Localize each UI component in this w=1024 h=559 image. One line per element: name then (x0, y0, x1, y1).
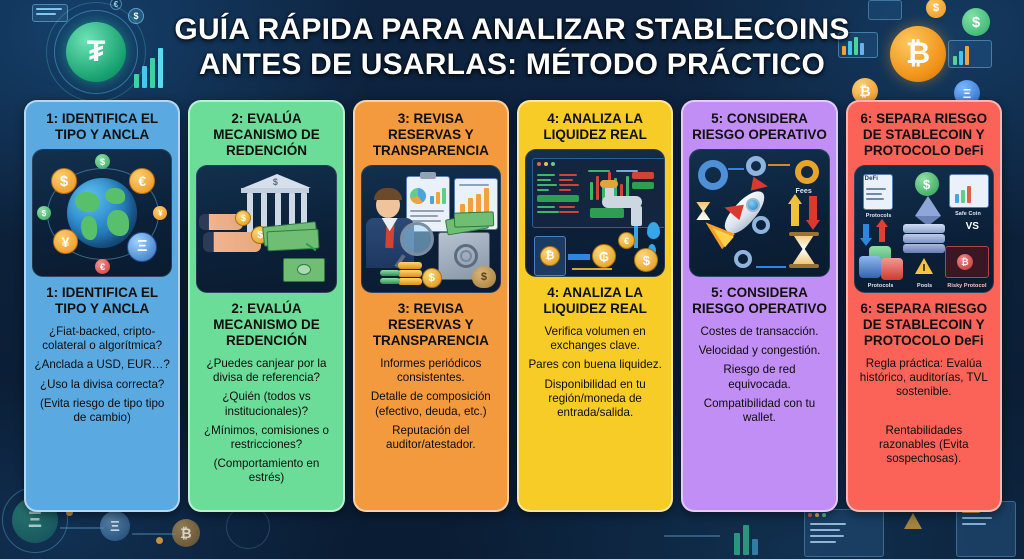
dollar-coin-icon: $ (51, 168, 77, 194)
card-1-body-line-4: (Evita riesgo de tipo tipo de cambio) (34, 397, 170, 425)
water-drop-icon (647, 222, 660, 239)
step-card-5[interactable]: 5: CONSIDERA RIESGO OPERATIVO Fees (681, 100, 837, 512)
card-2-title: 2: EVALÚA MECANISMO DE REDENCIÓN (196, 301, 336, 349)
globe-icon (67, 178, 137, 248)
step-card-4[interactable]: 4: ANALIZA LA LIQUIDEZ REAL (517, 100, 673, 512)
ethereum-coin-icon: Ξ (127, 232, 157, 262)
card-2-body-line-1: ¿Puedes canjear por la divisa de referen… (198, 357, 334, 385)
card-2-body: ¿Puedes canjear por la divisa de referen… (196, 357, 336, 486)
card-3-title: 3: REVISA RESERVAS Y TRANSPARENCIA (361, 301, 501, 349)
card-2-body-line-4: (Comportamiento en estrés) (198, 457, 334, 485)
title-line-2: ANTES DE USARLAS: MÉTODO PRÁCTICO (0, 47, 1024, 82)
card-2-heading: 2: EVALÚA MECANISMO DE REDENCIÓN (196, 109, 336, 159)
step-card-2[interactable]: 2: EVALÚA MECANISMO DE REDENCIÓN $ $ $ (188, 100, 344, 512)
card-1-body-line-3: ¿Uso la divisa correcta? (34, 378, 170, 392)
gear-orange-icon (795, 160, 819, 184)
card-5-title: 5: CONSIDERA RIESGO OPERATIVO (689, 285, 829, 317)
card-2-illustration: $ $ $ (196, 165, 336, 293)
hourglass-icon (793, 234, 815, 264)
card-4-heading: 4: ANALIZA LA LIQUIDEZ REAL (525, 109, 665, 143)
card-1-body: ¿Fiat-backed, cripto-colateral o algorít… (32, 325, 172, 425)
card-6-illustration: DeFi Protocols $ Safe Coin VS (854, 165, 994, 293)
card-1-heading: 1: IDENTIFICA EL TIPO Y ANCLA (32, 109, 172, 143)
coin-icon: $ (422, 268, 442, 288)
card-3-body-line-1: Informes periódicos consistentes. (363, 357, 499, 385)
card-2-body-line-3: ¿Mínimos, comisiones o restricciones? (198, 424, 334, 452)
magnifier-icon (400, 222, 434, 256)
step-card-1[interactable]: 1: IDENTIFICA EL TIPO Y ANCLA $ € ¥ Ξ $ … (24, 100, 180, 512)
vs-label: VS (966, 221, 979, 232)
safe-coin-label: Safe Coin (945, 211, 991, 217)
card-6-body-spacer (856, 405, 992, 419)
pools-label: Pools (905, 283, 945, 289)
card-6-body-line-2: Rentabilidades razonables (Evita sospech… (856, 424, 992, 467)
card-3-heading: 3: REVISA RESERVAS Y TRANSPARENCIA (361, 109, 501, 159)
database-blue-icon (859, 256, 881, 278)
card-5-body: Costes de transacción. Velocidad y conge… (689, 325, 829, 425)
card-4-body: Verifica volumen en exchanges clave. Par… (525, 325, 665, 420)
card-4-body-line-2: Pares con buena liquidez. (527, 358, 663, 372)
card-5-heading: 5: CONSIDERA RIESGO OPERATIVO (689, 109, 829, 143)
step-card-6[interactable]: 6: SEPARA RIESGO DE STABLECOIN Y PROTOCO… (846, 100, 1002, 512)
risky-protocol-label: Risky Protocol (941, 283, 993, 289)
card-1-body-line-1: ¿Fiat-backed, cripto-colateral o algorít… (34, 325, 170, 353)
step-card-3[interactable]: 3: REVISA RESERVAS Y TRANSPARENCIA (353, 100, 509, 512)
card-6-title: 6: SEPARA RIESGO DE STABLECOIN Y PROTOCO… (854, 301, 994, 349)
card-1-body-line-2: ¿Anclada a USD, EUR…? (34, 358, 170, 372)
title-line-1: GUÍA RÁPIDA PARA ANALIZAR STABLECOINS (0, 12, 1024, 47)
database-red-icon (881, 258, 903, 280)
money-bag-icon: $ (472, 266, 496, 288)
card-1-title: 1: IDENTIFICA EL TIPO Y ANCLA (32, 285, 172, 317)
infographic-page: ₮ $ € ₿ ₿ $ $ Ξ Ξ Ξ ₿ (0, 0, 1024, 559)
card-3-body: Informes periódicos consistentes. Detall… (361, 357, 501, 452)
steps-row: 1: IDENTIFICA EL TIPO Y ANCLA $ € ¥ Ξ $ … (24, 100, 1002, 512)
safe-dollar-coin-icon: $ (915, 172, 939, 196)
card-5-body-line-3: Riesgo de red equivocada. (691, 363, 827, 391)
card-4-body-line-3: Disponibilidad en tu región/moneda de en… (527, 378, 663, 421)
card-2-body-line-2: ¿Quién (todos vs institucionales)? (198, 390, 334, 418)
card-4-illustration: ₿ ₲ € $ (525, 149, 665, 277)
pool-layer (903, 224, 945, 233)
card-3-body-line-3: Reputación del auditor/atestador. (363, 424, 499, 452)
card-5-illustration: Fees (689, 149, 829, 277)
gear-small-icon (746, 156, 766, 176)
card-3-illustration: $ $ (361, 165, 501, 293)
card-5-body-line-2: Velocidad y congestión. (691, 344, 827, 358)
card-6-body-line-1: Regla práctica: Evalúa histórico, audito… (856, 357, 992, 400)
gear-blue-icon (698, 160, 728, 190)
card-6-body: Regla práctica: Evalúa histórico, audito… (854, 357, 994, 466)
card-3-body-line-2: Detalle de composición (efectivo, deuda,… (363, 390, 499, 418)
page-title: GUÍA RÁPIDA PARA ANALIZAR STABLECOINS AN… (0, 12, 1024, 82)
card-1-illustration: $ € ¥ Ξ $ € $ ¥ (32, 149, 172, 277)
protocols-label-bottom: Protocols (857, 283, 905, 289)
card-4-body-line-1: Verifica volumen en exchanges clave. (527, 325, 663, 353)
yen-coin-icon: ¥ (53, 229, 78, 254)
card-5-body-line-1: Costes de transacción. (691, 325, 827, 339)
card-5-body-line-4: Compatibilidad con tu wallet. (691, 397, 827, 425)
card-4-title: 4: ANALIZA LA LIQUIDEZ REAL (525, 285, 665, 317)
card-6-heading: 6: SEPARA RIESGO DE STABLECOIN Y PROTOCO… (854, 109, 994, 159)
